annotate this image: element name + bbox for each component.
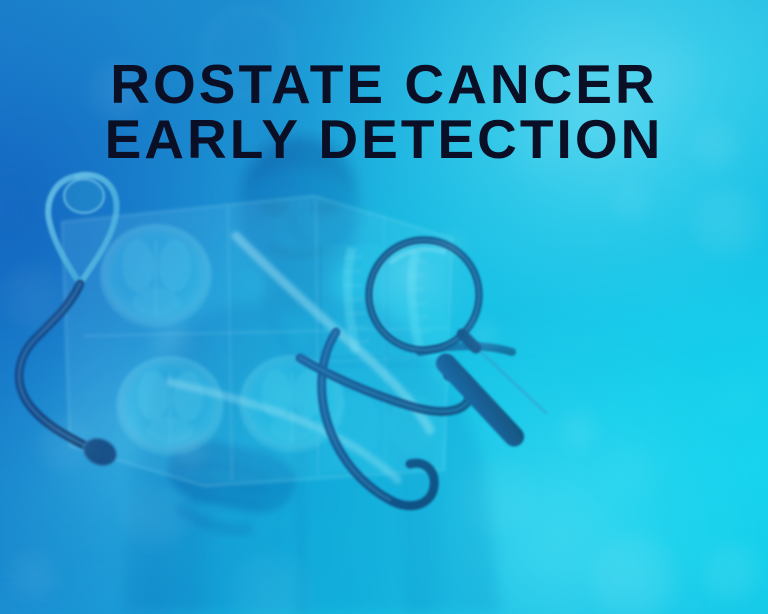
title-line-2: EARLY DETECTION [0,113,768,166]
title-line-1: ROSTATE CANCER [0,58,768,111]
page-title: ROSTATE CANCER EARLY DETECTION [0,58,768,166]
banner-image: ROSTATE CANCER EARLY DETECTION [0,0,768,614]
